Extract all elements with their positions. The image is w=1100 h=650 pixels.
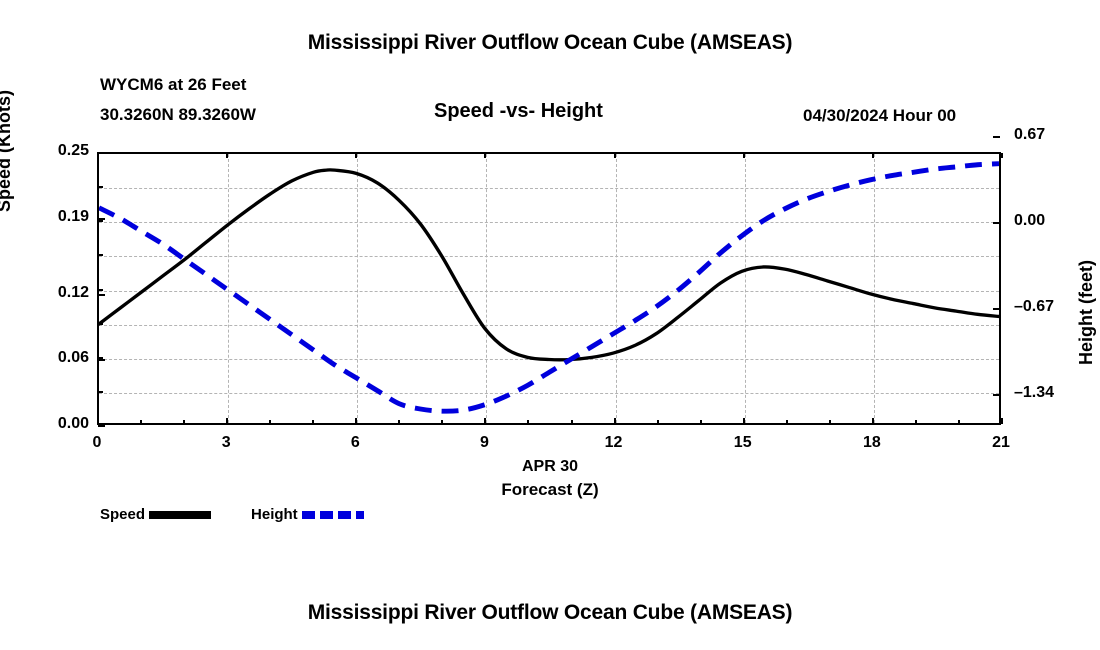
x-tick-minor [527, 420, 529, 424]
y-tick-label-left: 0.25 [29, 142, 89, 160]
x-tick-minor [183, 420, 185, 424]
x-tick-top [355, 153, 357, 158]
chart-subtitle: Speed -vs- Height [434, 100, 603, 123]
x-tick-label: 21 [981, 434, 1021, 452]
x-tick [614, 418, 616, 424]
y-tick-right [993, 308, 1000, 310]
y-tick-right [993, 394, 1000, 396]
x-tick [484, 418, 486, 424]
x-tick-minor [700, 420, 702, 424]
y-tick-left-minor [98, 425, 103, 427]
x-axis-date-label: APR 30 [0, 458, 1100, 476]
x-tick [97, 418, 99, 424]
x-tick-label: 15 [723, 434, 763, 452]
x-tick-minor [441, 420, 443, 424]
coordinates-label: 30.3260N 89.3260W [100, 105, 256, 125]
x-tick-top [743, 153, 745, 158]
chart-curves [99, 154, 999, 423]
x-tick [872, 418, 874, 424]
x-tick [1001, 418, 1003, 424]
x-tick-minor [958, 420, 960, 424]
x-tick-top [614, 153, 616, 158]
y-tick-label-left: 0.00 [29, 415, 89, 433]
y-axis-title-left: Speed (Knots) [0, 90, 15, 212]
legend-label-height: Height [251, 506, 298, 523]
y-tick-label-right: –0.67 [1014, 298, 1084, 316]
height-series-line [99, 164, 999, 412]
x-tick-minor [915, 420, 917, 424]
y-tick-left [98, 218, 105, 220]
legend-swatch-height-icon [302, 511, 364, 519]
page-title-top: Mississippi River Outflow Ocean Cube (AM… [0, 31, 1100, 55]
x-tick-label: 9 [464, 434, 504, 452]
station-label: WYCM6 at 26 Feet [100, 75, 246, 95]
speed-series-line [99, 170, 999, 360]
x-tick-label: 18 [852, 434, 892, 452]
x-tick-top [226, 153, 228, 158]
y-tick-left-minor [98, 254, 103, 256]
x-tick-label: 3 [206, 434, 246, 452]
y-tick-left-minor [98, 289, 103, 291]
y-axis-title-right: Height (feet) [1076, 260, 1097, 365]
y-tick-label-right: –1.34 [1014, 384, 1084, 402]
x-tick-minor [269, 420, 271, 424]
page-title-bottom: Mississippi River Outflow Ocean Cube (AM… [0, 601, 1100, 625]
x-tick-minor [312, 420, 314, 424]
x-tick-minor [657, 420, 659, 424]
y-tick-label-right: 0.00 [1014, 212, 1084, 230]
x-tick-minor [398, 420, 400, 424]
x-tick-top [1001, 153, 1003, 158]
x-tick-top [872, 153, 874, 158]
y-tick-label-left: 0.19 [29, 208, 89, 226]
x-tick [226, 418, 228, 424]
chart-legend: Speed Height [100, 506, 364, 523]
y-tick-label-right: 0.67 [1014, 126, 1084, 144]
legend-swatch-speed-icon [149, 511, 211, 519]
x-tick-label: 0 [77, 434, 117, 452]
x-tick-top [484, 153, 486, 158]
chart-plot-area [97, 152, 1001, 425]
legend-item-height: Height [251, 506, 364, 523]
x-tick-minor [571, 420, 573, 424]
y-tick-left-minor [98, 323, 103, 325]
y-tick-label-left: 0.06 [29, 349, 89, 367]
legend-label-speed: Speed [100, 506, 145, 523]
y-tick-right [993, 222, 1000, 224]
x-tick-label: 6 [335, 434, 375, 452]
x-tick-minor [786, 420, 788, 424]
x-tick-minor [829, 420, 831, 424]
y-tick-right [993, 136, 1000, 138]
y-tick-left-minor [98, 186, 103, 188]
x-tick-minor [140, 420, 142, 424]
legend-item-speed: Speed [100, 506, 211, 523]
y-tick-label-left: 0.12 [29, 284, 89, 302]
y-tick-left [98, 359, 105, 361]
y-tick-left [98, 294, 105, 296]
x-tick [743, 418, 745, 424]
x-tick-label: 12 [594, 434, 634, 452]
x-axis-title: Forecast (Z) [0, 480, 1100, 500]
y-tick-left-minor [98, 391, 103, 393]
y-tick-left-minor [98, 220, 103, 222]
forecast-datetime-label: 04/30/2024 Hour 00 [803, 106, 956, 126]
x-tick-top [97, 153, 99, 158]
y-tick-left-minor [98, 357, 103, 359]
x-tick [355, 418, 357, 424]
